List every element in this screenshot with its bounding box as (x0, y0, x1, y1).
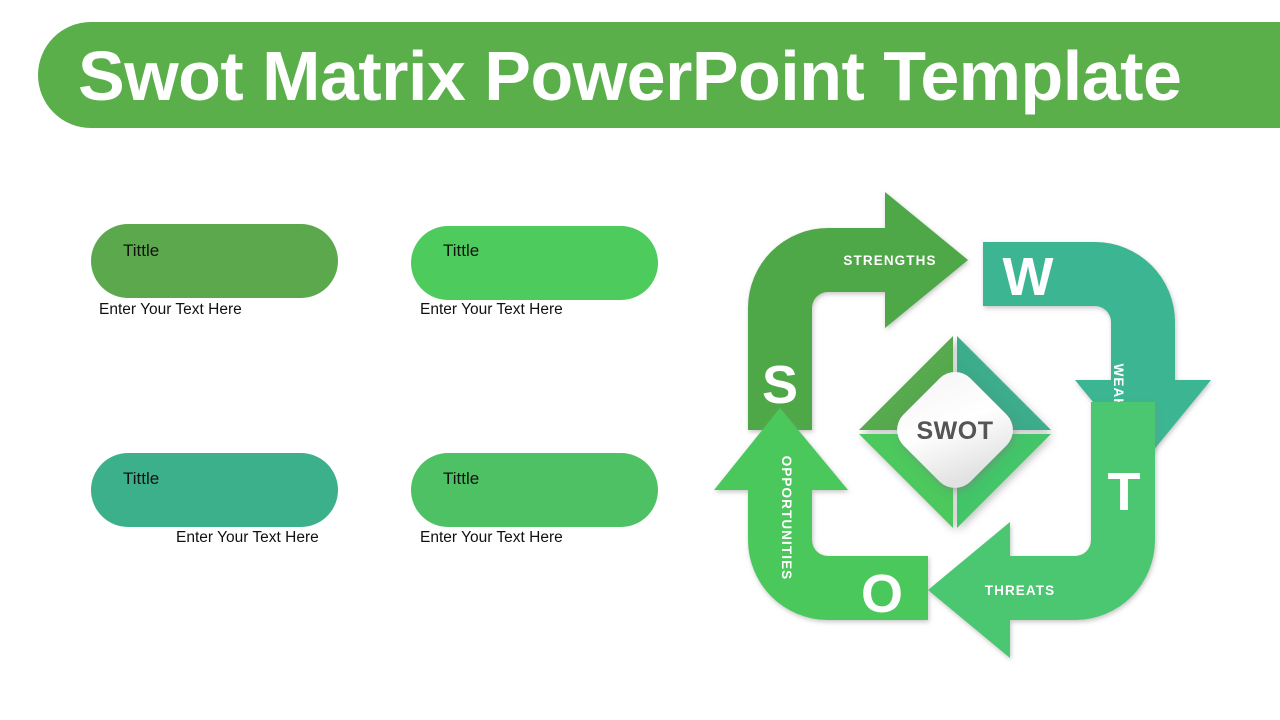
swot-cycle-diagram: S STRENGTHS W WEAKNESS O OPPORTUNITIES T… (700, 180, 1280, 680)
title-pill-4[interactable] (411, 453, 658, 527)
title-pill-2[interactable] (411, 226, 658, 300)
title-pill-2-label: Tittle (443, 241, 479, 261)
title-pill-1-caption: Enter Your Text Here (99, 301, 242, 319)
weakness-letter: W (1003, 247, 1054, 307)
strengths-label: STRENGTHS (843, 253, 936, 268)
title-pill-4-label: Tittle (443, 469, 479, 489)
title-pill-1[interactable] (91, 224, 338, 298)
page-title: Swot Matrix PowerPoint Template (78, 23, 1228, 129)
opportunities-letter: O (861, 564, 903, 624)
swot-badge-label: SWOT (917, 417, 994, 445)
opportunities-label: OPPORTUNITIES (779, 456, 794, 581)
strengths-letter: S (762, 355, 798, 415)
title-pill-4-caption: Enter Your Text Here (420, 529, 563, 547)
title-pill-2-caption: Enter Your Text Here (420, 301, 563, 319)
title-pill-1-label: Tittle (123, 241, 159, 261)
title-pill-3[interactable] (91, 453, 338, 527)
slide-canvas: Swot Matrix PowerPoint Template Tittle E… (0, 0, 1280, 720)
threats-letter: T (1108, 462, 1141, 522)
threats-label: THREATS (985, 583, 1055, 598)
title-pill-3-caption: Enter Your Text Here (176, 529, 319, 547)
title-pill-3-label: Tittle (123, 469, 159, 489)
